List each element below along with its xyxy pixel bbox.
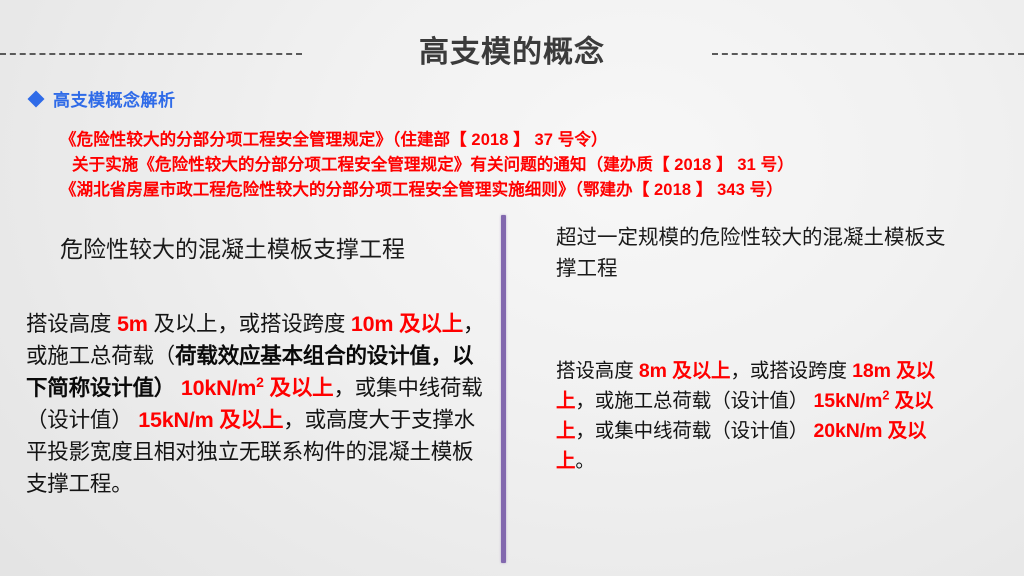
title-bar: 高支模的概念 bbox=[0, 30, 1024, 82]
text-run: ，或集中线荷载（设计值） bbox=[575, 420, 808, 442]
left-column-heading: 危险性较大的混凝土模板支撑工程 bbox=[26, 232, 488, 266]
slide-canvas: 高支模的概念 高支模概念解析 《危险性较大的分部分项工程安全管理规定》（住建部【… bbox=[0, 0, 1024, 576]
text-run: 及以上，或搭设跨度 bbox=[148, 312, 351, 336]
section-heading: 高支模概念解析 bbox=[30, 86, 176, 111]
left-column-body: 搭设高度 5m 及以上，或搭设跨度 10m 及以上，或施工总荷载（荷载效应基本组… bbox=[26, 308, 488, 500]
text-run: 10m 及以上 bbox=[351, 312, 463, 336]
text-run: 搭设高度 bbox=[26, 312, 117, 336]
regulation-line-2: 关于实施《危险性较大的分部分项工程安全管理规定》有关问题的通知（建办质【 201… bbox=[60, 153, 960, 178]
text-run: ，或搭设跨度 bbox=[730, 360, 852, 382]
column-divider bbox=[501, 215, 506, 563]
text-run: 5m bbox=[117, 312, 148, 336]
text-run: 10kN/m2 及以上 bbox=[175, 376, 333, 400]
left-column: 危险性较大的混凝土模板支撑工程 搭设高度 5m 及以上，或搭设跨度 10m 及以… bbox=[26, 232, 488, 500]
regulation-list: 《危险性较大的分部分项工程安全管理规定》（住建部【 2018 】 37 号令） … bbox=[60, 128, 960, 203]
text-run: 搭设高度 bbox=[556, 360, 639, 382]
right-column: 超过一定规模的危险性较大的混凝土模板支撑工程 搭设高度 8m 及以上，或搭设跨度… bbox=[556, 222, 956, 476]
regulation-line-3: 《湖北省房屋市政工程危险性较大的分部分项工程安全管理实施细则》（鄂建办【 201… bbox=[60, 178, 960, 203]
page-title: 高支模的概念 bbox=[0, 30, 1024, 76]
section-heading-label: 高支模概念解析 bbox=[53, 86, 176, 111]
right-column-heading: 超过一定规模的危险性较大的混凝土模板支撑工程 bbox=[556, 222, 956, 284]
regulation-line-1: 《危险性较大的分部分项工程安全管理规定》（住建部【 2018 】 37 号令） bbox=[60, 128, 960, 153]
diamond-bullet-icon bbox=[28, 90, 45, 107]
right-column-body: 搭设高度 8m 及以上，或搭设跨度 18m 及以上，或施工总荷载（设计值） 15… bbox=[556, 356, 956, 476]
text-run: ，或施工总荷载（设计值） bbox=[575, 390, 808, 412]
text-run: 15kN/m 及以上 bbox=[133, 408, 284, 432]
text-run: 8m 及以上 bbox=[639, 360, 731, 382]
text-run: 。 bbox=[575, 450, 594, 472]
